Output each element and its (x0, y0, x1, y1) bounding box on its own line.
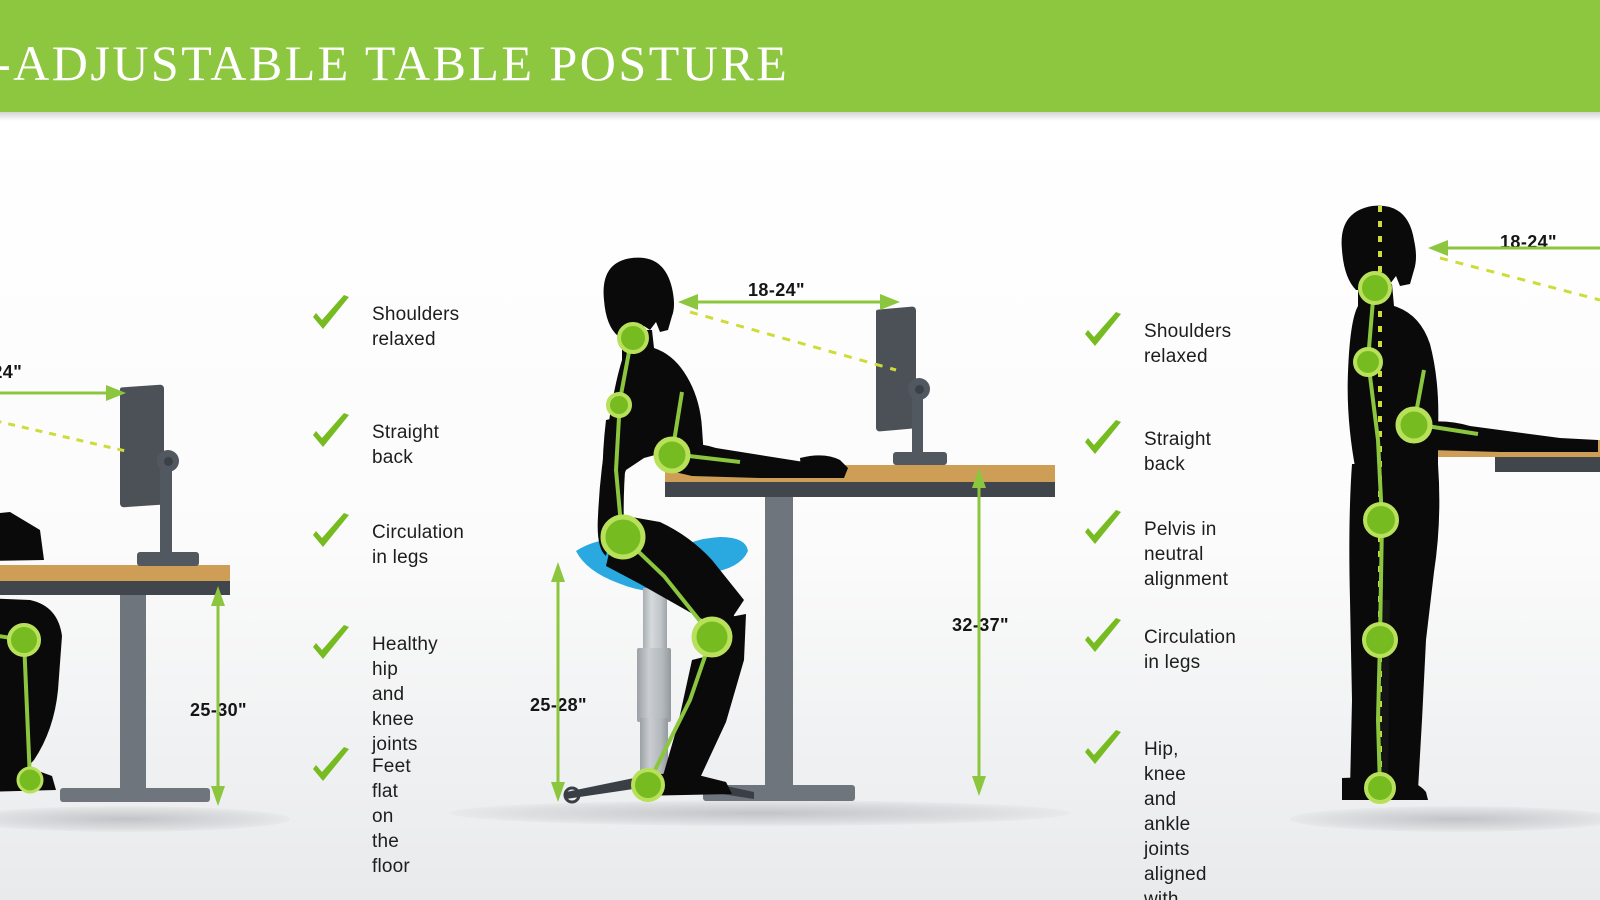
desk-top-center (665, 465, 1055, 482)
check-label: Shoulders relaxed (1144, 312, 1231, 369)
monitor-screen-left (120, 384, 164, 507)
infographic-root: -ADJUSTABLE TABLE POSTURE -24" 25-30" (0, 0, 1600, 900)
check-label: Feet flat on the floor (372, 747, 411, 879)
saddle-seat (570, 533, 750, 595)
check-label: Straight back (372, 413, 439, 470)
dim-desk-height-center: 32-37" (952, 615, 1009, 636)
check-label: Circulation in legs (1144, 618, 1236, 675)
check-item-circulation-in-legs-standing[interactable]: Circulation in legs (1082, 618, 1236, 675)
check-item-pelvis-neutral-alignment[interactable]: Pelvis in neutral alignment (1082, 510, 1228, 592)
floor-shadow-center (450, 800, 1070, 826)
desk-top-right (1425, 440, 1600, 457)
check-icon (310, 625, 352, 667)
monitor-post-center (912, 396, 923, 458)
check-icon (1082, 420, 1124, 462)
check-icon (310, 747, 352, 789)
check-item-shoulders-relaxed[interactable]: Shoulders relaxed (310, 295, 459, 352)
check-label: Circulation in legs (372, 513, 464, 570)
stool-cylinder-base-shaft (640, 718, 668, 778)
monitor-hinge-hole-center (915, 385, 924, 394)
desk-foot-left (60, 788, 210, 802)
check-label: Healthy hip and knee joints (372, 625, 438, 757)
check-icon (1082, 730, 1124, 772)
check-item-shoulders-relaxed-standing[interactable]: Shoulders relaxed (1082, 312, 1231, 369)
dim-viewing-distance-left: -24" (0, 362, 22, 383)
check-icon (310, 413, 352, 455)
check-item-joints-aligned-gravity-line[interactable]: Hip, knee and ankle joints aligned with … (1082, 730, 1207, 900)
check-item-straight-back[interactable]: Straight back (310, 413, 439, 470)
stool-cylinder-upper (643, 588, 667, 650)
diagram-canvas (0, 121, 1600, 900)
check-icon (310, 295, 352, 337)
dim-viewing-distance-center: 18-24" (748, 280, 805, 301)
dim-desk-height-left: 25-30" (190, 700, 247, 721)
monitor-hinge-hole-left (164, 457, 173, 466)
desk-edge-center (665, 482, 1055, 497)
desk-top-left (0, 565, 230, 581)
desk-edge-right (1495, 457, 1600, 472)
page-title: -ADJUSTABLE TABLE POSTURE (0, 34, 789, 92)
check-icon (1082, 510, 1124, 552)
monitor-base-center (893, 452, 947, 465)
check-label: Hip, knee and ankle joints aligned with … (1144, 730, 1207, 900)
check-icon (1082, 618, 1124, 660)
stool-base (558, 770, 758, 800)
monitor-screen-center (876, 306, 916, 431)
dim-viewing-distance-right: 18-24" (1500, 232, 1557, 253)
header-bar: -ADJUSTABLE TABLE POSTURE (0, 0, 1600, 112)
check-item-healthy-hip-knee-joints[interactable]: Healthy hip and knee joints (310, 625, 438, 757)
check-item-feet-flat-on-floor[interactable]: Feet flat on the floor (310, 747, 411, 879)
floor-shadow-right (1290, 806, 1600, 832)
desk-leg-center (765, 497, 793, 791)
desk-edge-left (0, 581, 230, 595)
check-icon (1082, 312, 1124, 354)
desk-leg-left (120, 595, 146, 795)
check-icon (310, 513, 352, 555)
monitor-base-left (137, 552, 199, 566)
header-drop-shadow (0, 112, 1600, 121)
monitor-post-left (160, 468, 172, 558)
check-label: Pelvis in neutral alignment (1144, 510, 1228, 592)
check-label: Shoulders relaxed (372, 295, 459, 352)
stool-cylinder-lower (637, 648, 671, 722)
check-label: Straight back (1144, 420, 1211, 477)
dim-stool-height: 25-28" (530, 695, 587, 716)
check-item-circulation-in-legs[interactable]: Circulation in legs (310, 513, 464, 570)
check-item-straight-back-standing[interactable]: Straight back (1082, 420, 1211, 477)
